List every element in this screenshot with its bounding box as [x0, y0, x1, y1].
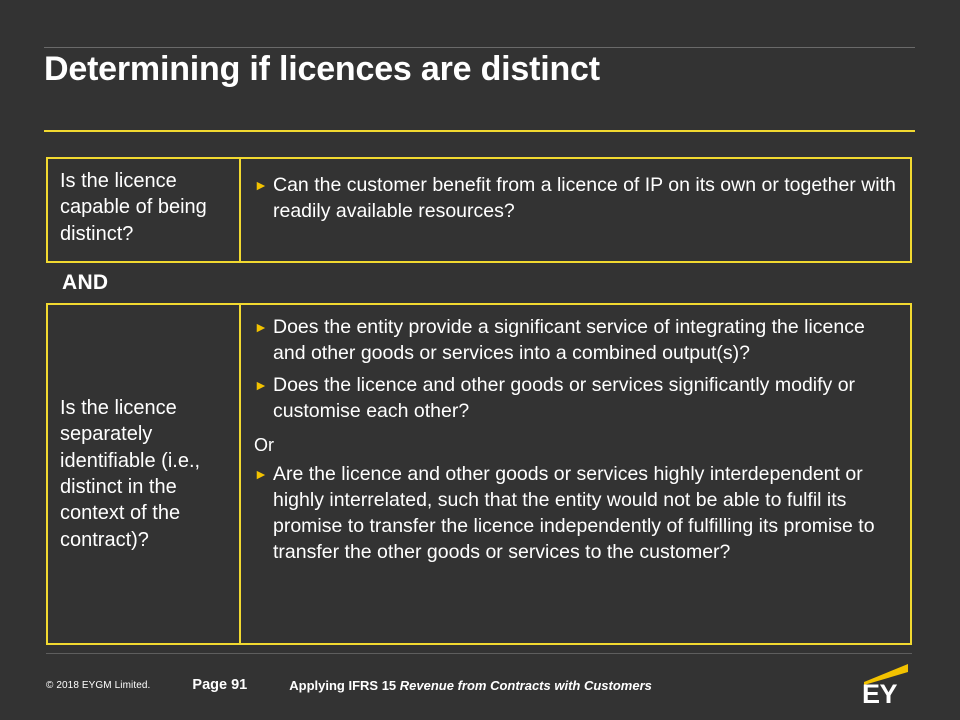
criterion-2-question: Is the licence separately identifiable (…	[48, 305, 241, 643]
svg-text:EY: EY	[862, 679, 898, 706]
criterion-box-1: Is the licence capable of being distinct…	[46, 157, 912, 263]
list-item: ► Does the entity provide a significant …	[251, 315, 900, 367]
footer-divider	[46, 653, 912, 654]
ey-logo: EY	[862, 662, 928, 706]
list-item: ► Can the customer benefit from a licenc…	[251, 173, 898, 225]
triangle-bullet-icon: ►	[251, 373, 273, 398]
header-divider	[44, 47, 915, 48]
title-accent-rule	[44, 130, 915, 132]
criterion-1-answers: ► Can the customer benefit from a licenc…	[241, 159, 910, 261]
page-number: Page 91	[192, 677, 247, 693]
page-title: Determining if licences are distinct	[44, 50, 924, 89]
list-item-text: Does the licence and other goods or serv…	[273, 373, 900, 425]
criterion-1-question: Is the licence capable of being distinct…	[48, 159, 241, 261]
document-reference-prefix: Applying IFRS 15	[289, 678, 400, 693]
footer: © 2018 EYGM Limited. Page 91 Applying IF…	[46, 672, 866, 698]
connector-and-label: AND	[62, 271, 108, 295]
document-reference: Applying IFRS 15 Revenue from Contracts …	[289, 678, 652, 693]
list-item-text: Does the entity provide a significant se…	[273, 315, 900, 367]
criterion-box-2: Is the licence separately identifiable (…	[46, 303, 912, 645]
slide-canvas: Determining if licences are distinct Is …	[0, 0, 960, 720]
list-item: ► Are the licence and other goods or ser…	[251, 462, 900, 566]
copyright-text: © 2018 EYGM Limited.	[46, 680, 150, 691]
list-item-text: Can the customer benefit from a licence …	[273, 173, 898, 225]
list-item: ► Does the licence and other goods or se…	[251, 373, 900, 425]
triangle-bullet-icon: ►	[251, 462, 273, 487]
list-item-text: Are the licence and other goods or servi…	[273, 462, 900, 566]
criterion-2-answers: ► Does the entity provide a significant …	[241, 305, 910, 643]
triangle-bullet-icon: ►	[251, 315, 273, 340]
triangle-bullet-icon: ►	[251, 173, 273, 198]
connector-or-label: Or	[251, 434, 900, 457]
document-reference-title: Revenue from Contracts with Customers	[400, 678, 652, 693]
